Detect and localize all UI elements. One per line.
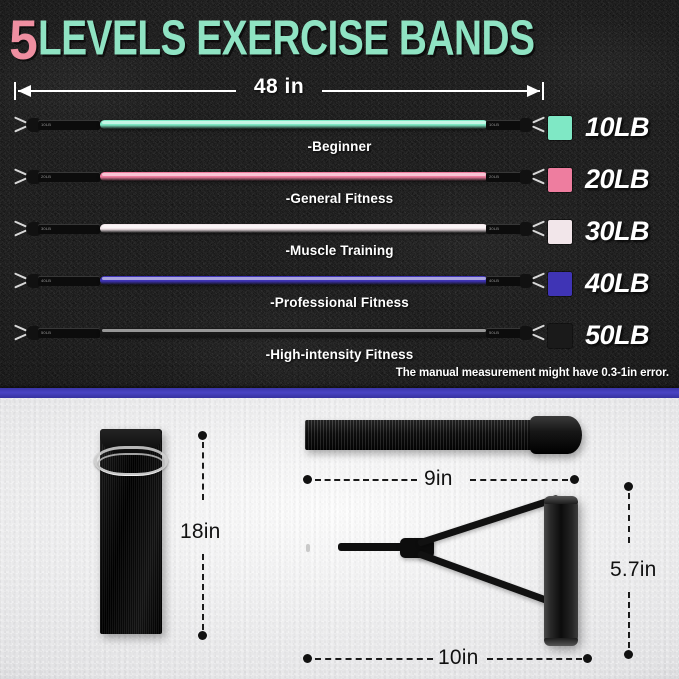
band-ferrule: 30LB (486, 224, 524, 234)
resistance-band-tube (100, 172, 488, 181)
dimension-dashes (315, 658, 433, 660)
dimension-dot (583, 654, 592, 663)
resistance-band-tube (100, 120, 488, 129)
tube-highlight (102, 225, 486, 228)
band-ferrule: 10LB (486, 120, 524, 130)
dimension-dashes (628, 493, 630, 543)
band-ferrule: 40LB (486, 276, 524, 286)
carabiner-icon (532, 222, 546, 235)
legend-item: 30LB (548, 216, 671, 247)
accessories-panel: 18in 9in (0, 398, 679, 679)
dimension-dashes (315, 479, 417, 481)
title-level-count: 5 (9, 14, 36, 66)
dimension-dashes (628, 592, 630, 648)
band-ferrule: 30LB (38, 224, 100, 234)
band-length-dimension: 48 in (14, 78, 544, 104)
ankle-strap-dimension-label: 18in (180, 520, 221, 544)
band-weight-code: 50LB (41, 330, 51, 335)
band-weight-code: 30LB (41, 226, 51, 231)
legend-weight-label: 20LB (585, 164, 671, 195)
band-weight-code: 10LB (489, 122, 499, 127)
legend-item: 40LB (548, 268, 671, 299)
legend-weight-label: 50LB (585, 320, 671, 351)
band-weight-code: 10LB (41, 122, 51, 127)
dimension-dot (570, 475, 579, 484)
band-weight-code: 20LB (41, 174, 51, 179)
dimension-dot (624, 482, 633, 491)
carabiner-icon (532, 118, 546, 131)
dimension-line-left (18, 90, 236, 92)
band-ferrule: 10LB (38, 120, 100, 130)
legend-item: 20LB (548, 164, 671, 195)
tube-highlight (102, 329, 486, 332)
band-weight-code: 40LB (489, 278, 499, 283)
dimension-end-cap-right (542, 82, 544, 100)
door-anchor-webbing (305, 420, 537, 450)
band-weight-code: 40LB (41, 278, 51, 283)
d-ring-inner-icon (97, 453, 165, 475)
band-ferrule: 50LB (486, 328, 524, 338)
resistance-band-tube (100, 224, 488, 233)
door-anchor-image (305, 416, 575, 454)
page-title: 5 LEVELS EXERCISE BANDS (8, 14, 550, 66)
handle-height-label: 5.7in (610, 558, 657, 582)
dimension-label: 48 in (246, 75, 312, 99)
tube-highlight (102, 277, 486, 280)
panel-divider (0, 388, 679, 398)
legend-item: 10LB (548, 112, 671, 143)
carabiner-icon (532, 326, 546, 339)
band-ferrule: 20LB (486, 172, 524, 182)
band-ferrule: 50LB (38, 328, 100, 338)
handle-foam-grip (544, 496, 578, 646)
dimension-dashes (202, 442, 204, 500)
dimension-dashes (202, 554, 204, 630)
carabiner-icon (306, 537, 350, 559)
arrow-right-icon (527, 85, 540, 97)
legend-color-swatch (548, 324, 572, 348)
dimension-dot (198, 631, 207, 640)
dimension-dashes (487, 658, 582, 660)
carabiner-icon (532, 274, 546, 287)
legend-color-swatch (548, 116, 572, 140)
dimension-dot (303, 654, 312, 663)
tube-highlight (102, 173, 486, 176)
dimension-line-right (322, 90, 540, 92)
legend-weight-label: 10LB (585, 112, 671, 143)
measurement-disclaimer: The manual measurement might have 0.3-1i… (396, 367, 669, 379)
legend-item: 50LB (548, 320, 671, 351)
resistance-band-tube (100, 328, 488, 337)
handle-image (300, 488, 600, 658)
handle-strap-lower (417, 550, 562, 609)
handle-strap-upper (417, 494, 560, 546)
handle-width-label: 10in (438, 646, 479, 670)
band-weight-code: 20LB (489, 174, 499, 179)
dimension-dot (303, 475, 312, 484)
resistance-band-tube (100, 276, 488, 285)
tube-highlight (102, 121, 486, 124)
legend-weight-label: 40LB (585, 268, 671, 299)
dimension-dot (198, 431, 207, 440)
band-weight-code: 50LB (489, 330, 499, 335)
door-anchor-ball (530, 416, 582, 454)
dimension-dashes (470, 479, 568, 481)
band-ferrule: 20LB (38, 172, 100, 182)
band-weight-code: 30LB (489, 226, 499, 231)
arrow-left-icon (18, 85, 31, 97)
dimension-dot (624, 650, 633, 659)
bands-panel: 5 LEVELS EXERCISE BANDS 48 in 10LB10LB-B… (0, 0, 679, 389)
dimension-end-cap-left (14, 82, 16, 100)
legend-color-swatch (548, 220, 572, 244)
legend-weight-label: 30LB (585, 216, 671, 247)
carabiner-icon (532, 170, 546, 183)
title-text: LEVELS EXERCISE BANDS (38, 14, 534, 63)
product-infographic: 5 LEVELS EXERCISE BANDS 48 in 10LB10LB-B… (0, 0, 679, 679)
ankle-strap-image (100, 429, 162, 634)
legend-color-swatch (548, 168, 572, 192)
band-ferrule: 40LB (38, 276, 100, 286)
legend-color-swatch (548, 272, 572, 296)
